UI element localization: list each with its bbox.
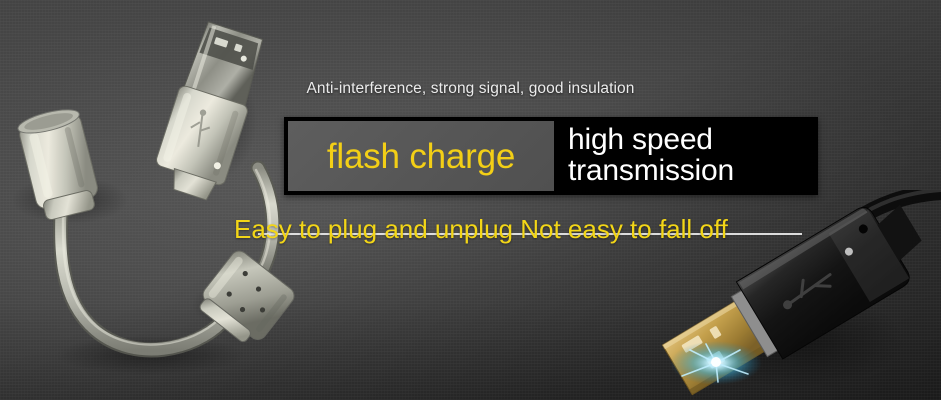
feature-line-1: high speed bbox=[568, 125, 818, 156]
subline-text: Easy to plug and unplug Not easy to fall… bbox=[234, 212, 728, 246]
spark-glow-effect bbox=[670, 341, 762, 385]
white-usb-extension-cable-photo bbox=[0, 0, 330, 400]
flash-charge-label: flash charge bbox=[327, 139, 515, 174]
feature-line-2: transmission bbox=[568, 156, 818, 187]
tagline-text: Anti-interference, strong signal, good i… bbox=[0, 80, 941, 98]
high-speed-transmission-block: high speed transmission bbox=[554, 117, 818, 195]
promo-banner-canvas: Anti-interference, strong signal, good i… bbox=[0, 0, 941, 400]
subline-area: Easy to plug and unplug Not easy to fall… bbox=[0, 212, 941, 246]
flash-charge-badge: flash charge bbox=[288, 121, 554, 191]
feature-banner: flash charge high speed transmission bbox=[284, 117, 818, 195]
